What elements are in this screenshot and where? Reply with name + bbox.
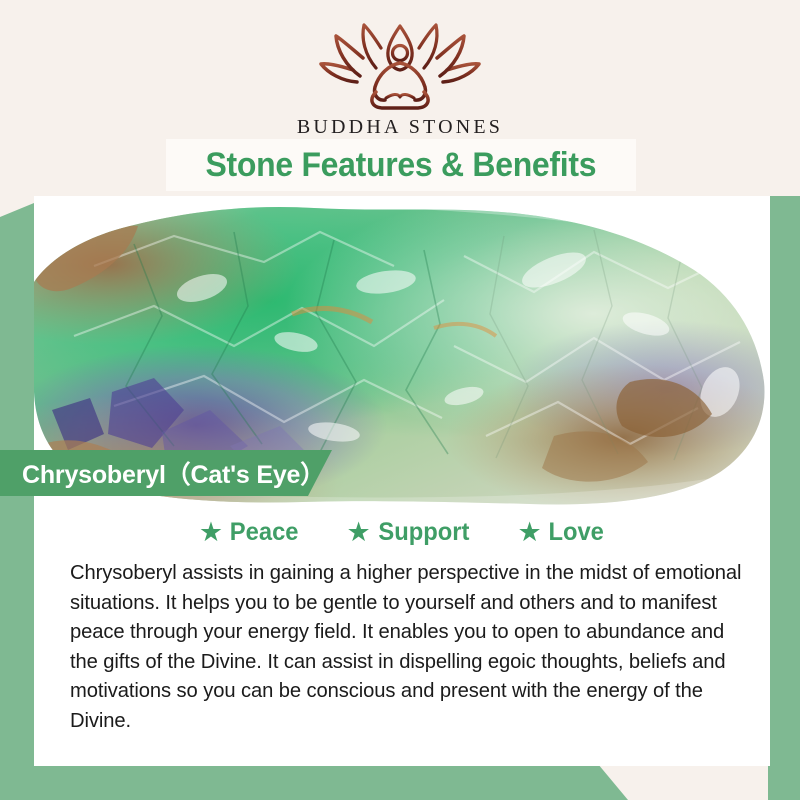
- stone-name: Chrysoberyl（Cat's Eye）: [22, 455, 325, 491]
- stone-name-banner: Chrysoberyl（Cat's Eye）: [0, 450, 352, 496]
- brand-name: BUDDHA STONES: [297, 116, 503, 139]
- page-title: Stone Features & Benefits: [206, 146, 597, 185]
- benefit-peace: ★ Peace: [199, 518, 301, 547]
- benefit-support: ★ Support: [346, 518, 471, 547]
- benefits-row: ★ Peace ★ Support ★ Love: [34, 512, 770, 552]
- benefit-label: Support: [378, 518, 469, 547]
- benefit-label: Love: [548, 518, 603, 547]
- star-icon: ★: [199, 519, 223, 546]
- benefit-label: Peace: [230, 518, 299, 547]
- lotus-meditation-icon: [315, 22, 485, 110]
- star-icon: ★: [346, 519, 370, 546]
- page-title-band: Stone Features & Benefits: [166, 139, 636, 191]
- frame-left-bar: [0, 203, 34, 800]
- infographic-page: BUDDHA STONES: [0, 0, 800, 800]
- frame-bottom-bar: [0, 764, 800, 800]
- benefit-love: ★ Love: [517, 518, 605, 547]
- stone-description: Chrysoberyl assists in gaining a higher …: [70, 558, 752, 735]
- brand-logo: BUDDHA STONES: [0, 22, 800, 139]
- star-icon: ★: [517, 519, 541, 546]
